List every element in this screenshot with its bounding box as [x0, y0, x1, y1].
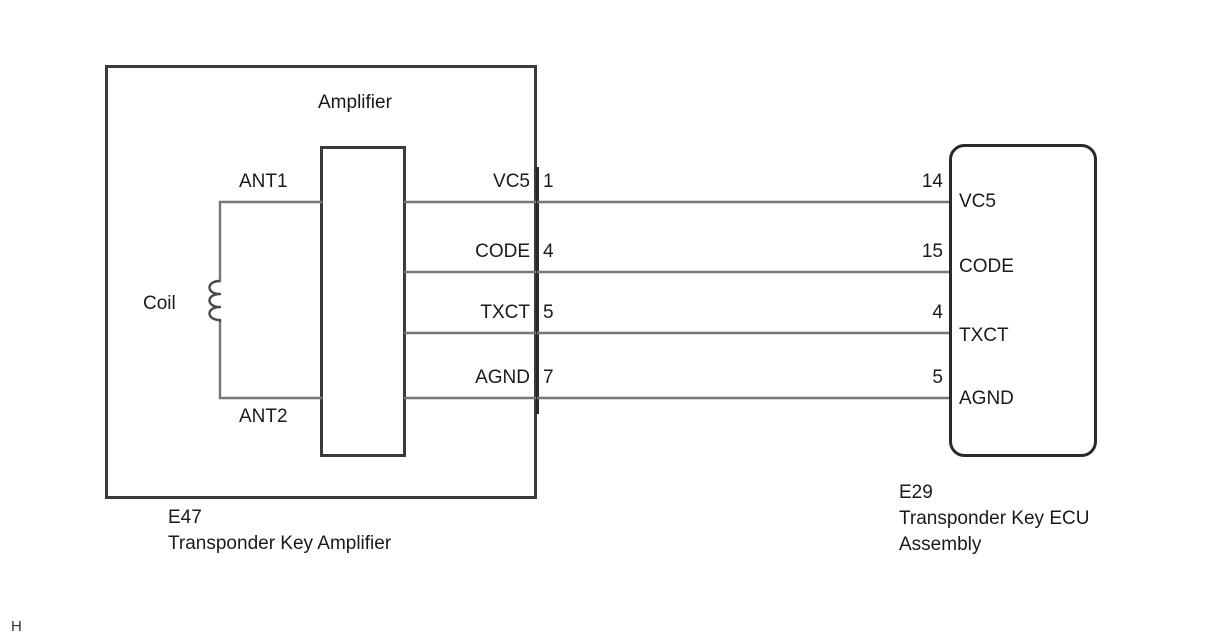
ecu-signal-code: CODE — [959, 257, 1014, 276]
amplifier-block — [322, 148, 405, 456]
ecu-signal-agnd: AGND — [959, 389, 1014, 408]
amplifier-signal-agnd: AGND — [400, 368, 530, 387]
amplifier-caption: E47 Transponder Key Amplifier — [168, 505, 391, 557]
amplifier-pin-txct: 5 — [543, 303, 554, 322]
amplifier-signal-txct: TXCT — [400, 303, 530, 322]
antenna-loop-wire — [220, 202, 321, 281]
antenna-loop-wire-lower — [220, 322, 321, 398]
amplifier-pin-vc5: 1 — [543, 172, 554, 191]
diagram-canvas: Amplifier Coil ANT1 ANT2 VC5 CODE TXCT A… — [0, 0, 1208, 644]
ecu-signal-vc5: VC5 — [959, 192, 996, 211]
amplifier-signal-code: CODE — [400, 242, 530, 261]
ecu-pin-vc5: 14 — [849, 172, 943, 191]
coil-icon — [210, 281, 221, 322]
amplifier-connector-code: E47 — [168, 505, 391, 531]
amplifier-title: Amplifier — [318, 93, 392, 112]
ecu-component-name-line2: Assembly — [899, 532, 1089, 558]
amplifier-signal-vc5: VC5 — [400, 172, 530, 191]
ecu-caption: E29 Transponder Key ECU Assembly — [899, 480, 1089, 558]
ecu-component-name-line1: Transponder Key ECU — [899, 506, 1089, 532]
ecu-connector-code: E29 — [899, 480, 1089, 506]
ecu-pin-code: 15 — [849, 242, 943, 261]
terminal-label-ant2: ANT2 — [239, 407, 288, 426]
terminal-label-ant1: ANT1 — [239, 172, 288, 191]
coil-label: Coil — [143, 294, 176, 313]
ecu-pin-agnd: 5 — [849, 368, 943, 387]
page-mark: H — [11, 618, 22, 635]
amplifier-pin-agnd: 7 — [543, 368, 554, 387]
ecu-pin-txct: 4 — [849, 303, 943, 322]
amplifier-pin-code: 4 — [543, 242, 554, 261]
amplifier-component-name: Transponder Key Amplifier — [168, 531, 391, 557]
ecu-signal-txct: TXCT — [959, 326, 1009, 345]
